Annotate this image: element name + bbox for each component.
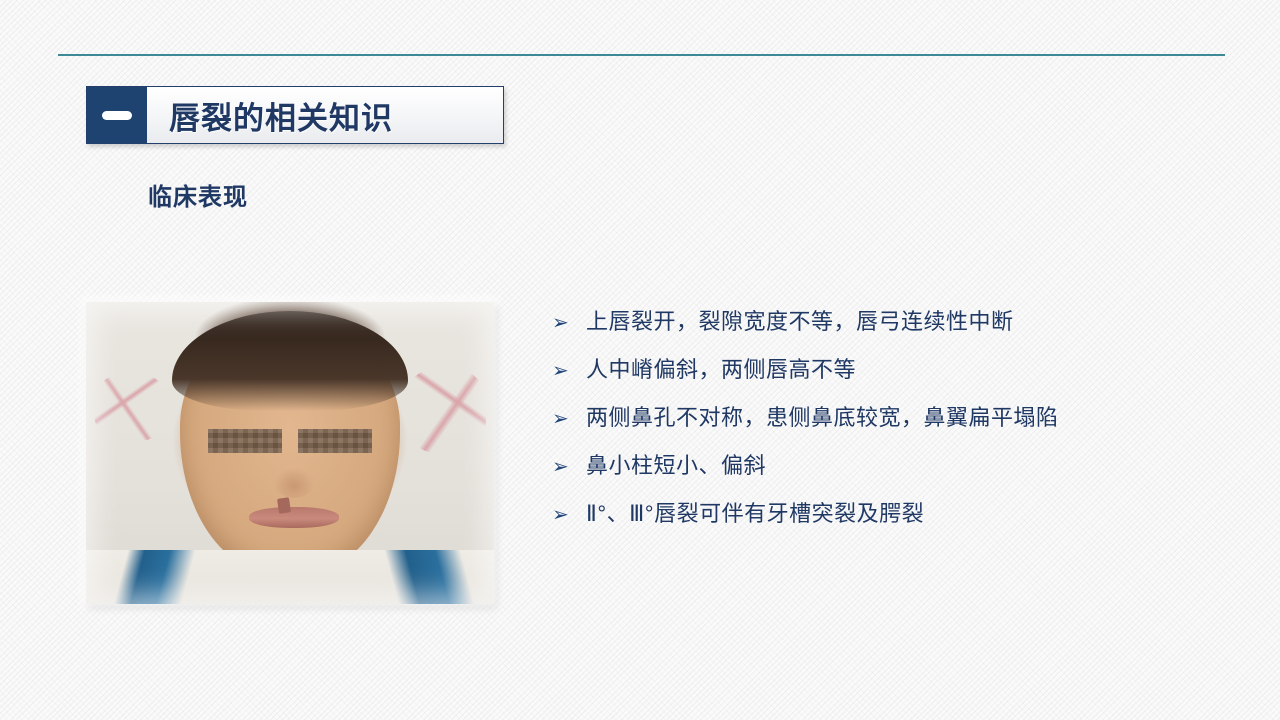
bedsheet-print-left — [94, 374, 167, 440]
list-item-label: Ⅱ°、Ⅲ°唇裂可伴有牙槽突裂及腭裂 — [586, 496, 1232, 528]
arrow-bullet-icon: ➢ — [552, 313, 586, 333]
photo-content — [86, 302, 494, 604]
arrow-bullet-icon: ➢ — [552, 505, 586, 525]
eye-redaction-left — [208, 429, 281, 453]
arrow-bullet-icon: ➢ — [552, 409, 586, 429]
eye-redaction-blocks — [208, 429, 371, 453]
infant-hair — [172, 311, 409, 411]
list-item-label: 人中嵴偏斜，两侧唇高不等 — [586, 352, 1232, 384]
page-title: 唇裂的相关知识 — [147, 87, 503, 143]
list-item-label: 上唇裂开，裂隙宽度不等，唇弓连续性中断 — [586, 304, 1232, 336]
cleft-lip-gap — [277, 498, 291, 515]
header-divider-rule — [58, 54, 1225, 56]
eye-redaction-right — [298, 429, 371, 453]
section-title-badge: 唇裂的相关知识 — [86, 86, 504, 144]
section-subtitle: 临床表现 — [148, 177, 248, 212]
infant-mouth — [249, 507, 339, 528]
infant-clothing-collar — [86, 550, 494, 604]
list-item: ➢ 上唇裂开，裂隙宽度不等，唇弓连续性中断 — [552, 304, 1232, 352]
arrow-bullet-icon: ➢ — [552, 457, 586, 477]
clinical-photo — [86, 302, 494, 604]
list-item: ➢ 人中嵴偏斜，两侧唇高不等 — [552, 352, 1232, 400]
section-number-marker — [87, 87, 147, 143]
list-item: ➢ Ⅱ°、Ⅲ°唇裂可伴有牙槽突裂及腭裂 — [552, 496, 1232, 544]
list-item-label: 两侧鼻孔不对称，患侧鼻底较宽，鼻翼扁平塌陷 — [586, 400, 1232, 432]
dash-icon — [102, 111, 132, 120]
list-item: ➢ 两侧鼻孔不对称，患侧鼻底较宽，鼻翼扁平塌陷 — [552, 400, 1232, 448]
clinical-findings-list: ➢ 上唇裂开，裂隙宽度不等，唇弓连续性中断 ➢ 人中嵴偏斜，两侧唇高不等 ➢ 两… — [552, 304, 1232, 544]
bedsheet-print-right — [404, 368, 486, 453]
list-item-label: 鼻小柱短小、偏斜 — [586, 448, 1232, 480]
list-item: ➢ 鼻小柱短小、偏斜 — [552, 448, 1232, 496]
arrow-bullet-icon: ➢ — [552, 361, 586, 381]
slide-canvas: 唇裂的相关知识 临床表现 ➢ 上唇裂开，裂隙宽度不等，唇弓连续性中断 ➢ 人中嵴… — [0, 0, 1280, 720]
